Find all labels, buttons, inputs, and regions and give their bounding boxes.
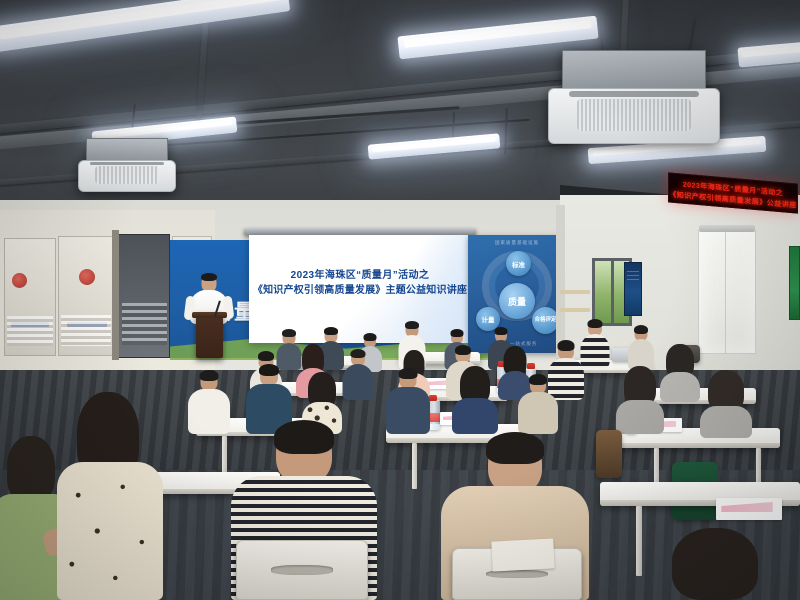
attendee-hair-long xyxy=(7,436,55,502)
attendee-hair xyxy=(258,351,274,361)
attendee-hair xyxy=(455,345,471,355)
podium-top xyxy=(192,312,227,318)
attendee-row2-1 xyxy=(188,372,230,434)
wall-poster-blue xyxy=(624,262,642,316)
presenter-hair xyxy=(201,273,217,281)
attendee-torso xyxy=(660,372,700,402)
ceiling-light-1 xyxy=(0,0,290,53)
attendee-torso xyxy=(581,334,610,368)
attendee-row3-3 xyxy=(342,350,374,400)
lecture-hall-photo: 质量基础 2023年海珠区“质量月”活动之 《知识产权引领高质量发展》主题公益知… xyxy=(0,0,800,600)
window-roller-shade[interactable] xyxy=(698,230,756,354)
ceiling-light-3 xyxy=(737,36,800,67)
glass-door-left-1[interactable] xyxy=(4,238,56,356)
projector-screen-roller[interactable] xyxy=(244,228,476,235)
podium xyxy=(196,312,223,358)
attendee-row2-8 xyxy=(700,372,752,438)
diagram-node-conformity: 合格评定 xyxy=(532,307,559,334)
attendee-torso xyxy=(57,462,163,600)
attendee-hair xyxy=(274,420,334,454)
attendee-hair xyxy=(399,368,418,379)
door-strip xyxy=(11,322,49,327)
bottle-cap xyxy=(429,395,437,401)
glass-door-left-2[interactable] xyxy=(58,236,114,356)
attendee-torso xyxy=(188,389,230,434)
attendee-hair xyxy=(588,319,603,328)
diagram-node-quality: 质量 xyxy=(499,283,535,319)
poster-top-caption: 国家质量基础设施 xyxy=(468,240,566,246)
attendee-torso xyxy=(518,392,558,434)
door-frame xyxy=(112,230,119,360)
attendee-hair xyxy=(282,329,296,337)
attendee-hair xyxy=(486,432,544,464)
ac-vent xyxy=(569,91,700,97)
emblem-icon xyxy=(12,273,27,288)
wall-shelf-2 xyxy=(560,308,590,312)
attendee-hair xyxy=(495,327,508,335)
attendee-back-8 xyxy=(628,326,654,370)
attendee-torso xyxy=(386,387,430,434)
slide-title-line-1: 2023年海珠区“质量月”活动之 xyxy=(249,266,471,281)
attendee-row2-6 xyxy=(518,376,558,434)
glass-door-center[interactable] xyxy=(118,234,170,358)
shoulder-bag xyxy=(596,430,622,478)
attendee-torso xyxy=(700,406,752,438)
wall-shelf-1 xyxy=(560,290,590,294)
attendee-hair xyxy=(405,321,419,329)
attendee-row3-8 xyxy=(660,346,700,402)
ac-vent xyxy=(90,162,164,165)
attendee-hair xyxy=(634,325,648,334)
paper-pink-graphic xyxy=(721,502,772,512)
attendee-hair xyxy=(200,370,219,381)
attendee-hair xyxy=(450,329,463,337)
emblem-icon xyxy=(79,269,95,285)
attendee-hair xyxy=(529,374,547,385)
ceiling-ac-unit-right xyxy=(548,50,720,144)
attendee-back-7 xyxy=(580,320,610,368)
projection-screen: 2023年海珠区“质量月”活动之 《知识产权引领高质量发展》主题公益知识讲座 xyxy=(249,235,471,343)
attendee-row2-5 xyxy=(452,368,498,434)
attendee-row2-4 xyxy=(386,370,430,434)
chair-front-1[interactable] xyxy=(236,540,368,600)
attendee-hair xyxy=(351,349,366,358)
slide-title-line-2: 《知识产权引领高质量发展》主题公益知识讲座 xyxy=(249,281,471,296)
desk-leg xyxy=(412,443,417,489)
attendee-front-leopard xyxy=(54,392,166,600)
ceiling-ac-unit-left xyxy=(78,138,176,192)
attendee-torso xyxy=(452,398,498,434)
attendee-hair xyxy=(324,327,338,335)
attendee-torso xyxy=(616,400,664,434)
ac-body xyxy=(562,50,706,93)
wall-poster-green xyxy=(789,246,800,320)
attendee-front-right xyxy=(650,528,780,600)
desk-leg xyxy=(636,506,642,576)
attendee-hair xyxy=(364,333,377,341)
chair-handle-slot xyxy=(271,565,333,574)
handout-paper-5 xyxy=(491,538,554,571)
attendee-hair xyxy=(558,340,575,351)
attendee-row2-7 xyxy=(616,368,664,434)
nqi-diagram-poster: 国家质量基础设施 质量 标准 计量 合格评定 NQI 一站式服务 xyxy=(468,235,566,353)
diagram-node-standard: 标准 xyxy=(506,251,531,276)
attendee-hair-long xyxy=(672,528,758,600)
ac-grille xyxy=(95,166,160,184)
attendee-hair xyxy=(259,364,279,376)
ac-grille xyxy=(577,99,691,131)
ceiling-light-5 xyxy=(368,133,501,159)
attendee-torso xyxy=(343,364,374,400)
handout-paper-4 xyxy=(716,498,782,520)
door-strip xyxy=(67,322,107,327)
